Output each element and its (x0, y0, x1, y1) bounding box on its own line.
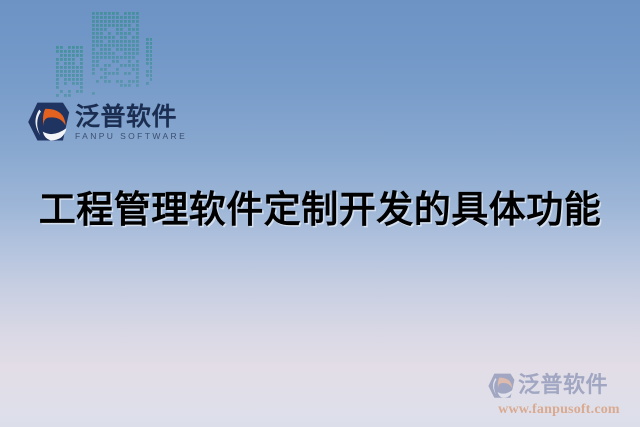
site-watermark: 泛普软件 www.fanpusoft.com (486, 371, 632, 417)
fanpu-hexagon-mark-icon (26, 100, 70, 144)
watermark-logo-row: 泛普软件 (486, 371, 632, 401)
logo-chinese-name: 泛普软件 (75, 103, 187, 130)
logo-english-name: FANPU SOFTWARE (75, 131, 187, 142)
watermark-url: www.fanpusoft.com (486, 402, 632, 418)
pixel-skyline-decoration (56, 2, 152, 98)
fanpu-logo: 泛普软件 FANPU SOFTWARE (26, 97, 196, 147)
promo-banner: 泛普软件 FANPU SOFTWARE 工程管理软件定制开发的具体功能 泛普软件… (0, 0, 640, 427)
banner-headline: 工程管理软件定制开发的具体功能 (0, 188, 640, 232)
fanpu-wordmark: 泛普软件 FANPU SOFTWARE (75, 103, 187, 142)
watermark-hexagon-mark-icon (486, 372, 516, 400)
watermark-chinese-name: 泛普软件 (518, 374, 608, 398)
pixel-skyline-icon (56, 2, 152, 98)
